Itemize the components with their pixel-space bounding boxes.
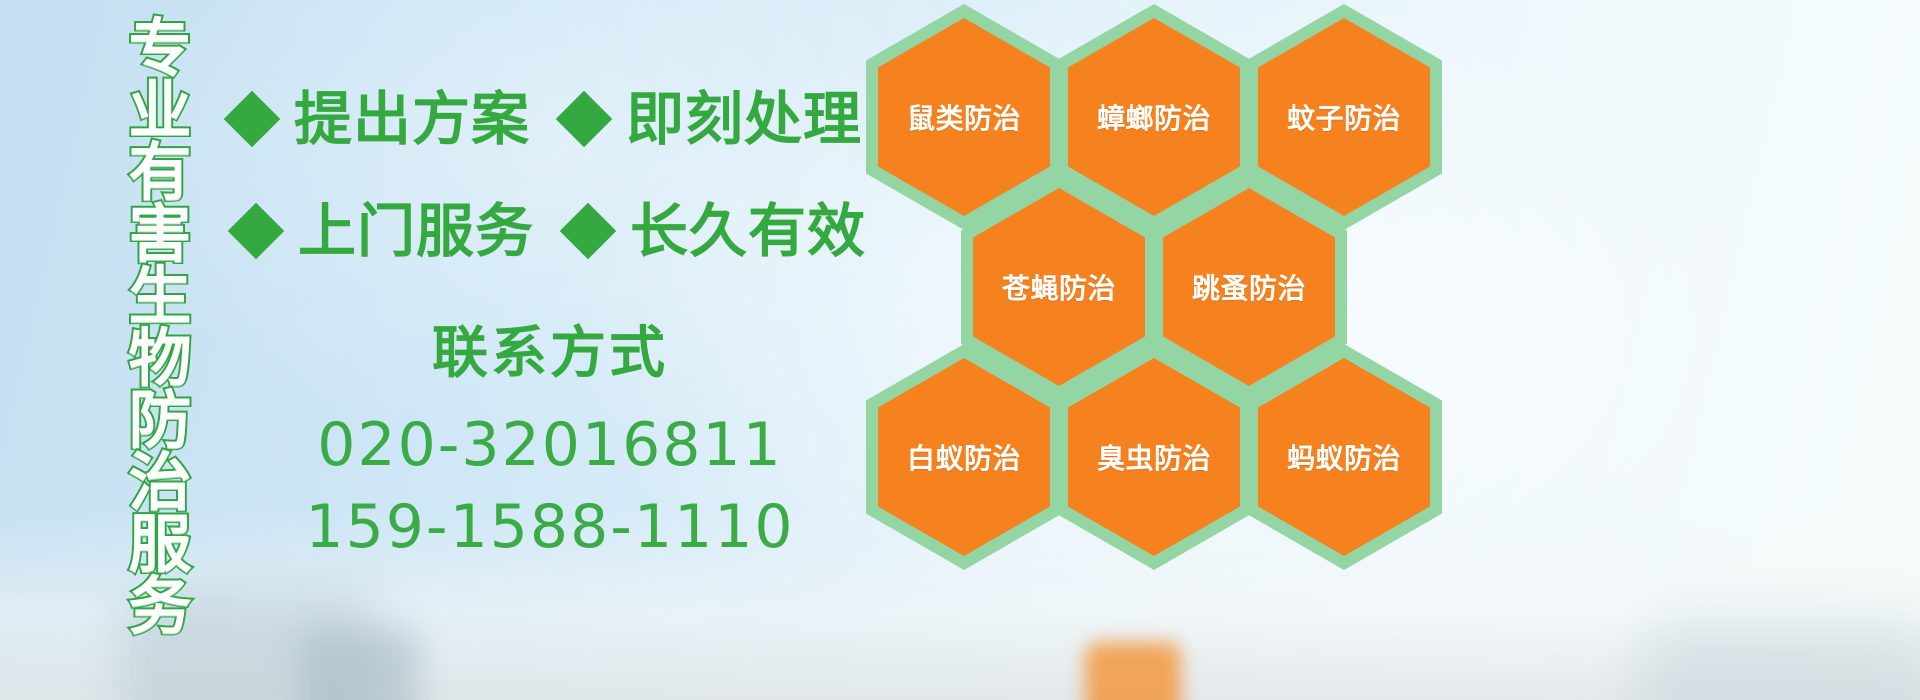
vertical-headline: 专 业 有 害 生 物 防 治 服 务 xyxy=(112,18,208,578)
vertical-headline-char: 务 xyxy=(129,576,192,638)
feature-row-top: 提出方案 即刻处理 xyxy=(232,88,862,150)
diamond-icon xyxy=(560,203,617,260)
hex-inner: 蚂蚁防治 xyxy=(1258,358,1430,556)
service-label: 跳蚤防治 xyxy=(1192,267,1306,307)
service-label: 苍蝇防治 xyxy=(1002,267,1116,307)
hex-inner: 蟑螂防治 xyxy=(1068,18,1240,216)
service-label: 臭虫防治 xyxy=(1097,437,1211,477)
feature-label: 上门服务 xyxy=(298,200,534,262)
hex-inner: 蚊子防治 xyxy=(1258,18,1430,216)
hex-inner: 跳蚤防治 xyxy=(1163,188,1335,386)
feature-item-long-lasting: 长久有效 xyxy=(568,200,866,262)
diamond-icon xyxy=(228,203,285,260)
feature-label: 提出方案 xyxy=(294,88,530,150)
contact-title: 联系方式 xyxy=(240,318,860,390)
hex-inner: 苍蝇防治 xyxy=(973,188,1145,386)
services-honeycomb: 鼠类防治 蟑螂防治 蚊子防治 苍蝇防治 跳蚤防治 白蚁防治 xyxy=(862,0,1462,556)
vertical-headline-char: 有 xyxy=(129,142,192,204)
vertical-headline-char: 服 xyxy=(129,514,192,576)
vertical-headline-char: 生 xyxy=(129,266,192,328)
feature-item-immediate-handling: 即刻处理 xyxy=(564,88,862,150)
hex-inner: 白蚁防治 xyxy=(878,358,1050,556)
phone-mobile[interactable]: 159-1588-1110 xyxy=(240,488,860,566)
feature-item-onsite-service: 上门服务 xyxy=(236,200,534,262)
hex-inner: 鼠类防治 xyxy=(878,18,1050,216)
vertical-headline-char: 害 xyxy=(129,204,192,266)
feature-label: 长久有效 xyxy=(630,200,866,262)
background-blur-shape-orange xyxy=(1085,642,1181,700)
service-label: 蚂蚁防治 xyxy=(1287,437,1401,477)
feature-label: 即刻处理 xyxy=(626,88,862,150)
hex-inner: 臭虫防治 xyxy=(1068,358,1240,556)
diamond-icon xyxy=(224,91,281,148)
service-label: 鼠类防治 xyxy=(907,97,1021,137)
vertical-headline-char: 专 xyxy=(129,18,192,80)
diamond-icon xyxy=(556,91,613,148)
contact-block: 联系方式 020-32016811 159-1588-1110 xyxy=(240,318,860,566)
promo-banner: 专 业 有 害 生 物 防 治 服 务 提出方案 即刻处理 上门服务 长久有效 xyxy=(0,0,1920,700)
service-label: 蚊子防治 xyxy=(1287,97,1401,137)
background-blur-shape-mid xyxy=(300,630,420,700)
vertical-headline-char: 治 xyxy=(129,452,192,514)
service-label: 蟑螂防治 xyxy=(1097,97,1211,137)
phone-landline[interactable]: 020-32016811 xyxy=(240,406,860,484)
background-blur-shape-right xyxy=(1640,620,1920,700)
service-label: 白蚁防治 xyxy=(907,437,1021,477)
feature-item-propose-plan: 提出方案 xyxy=(232,88,530,150)
vertical-headline-char: 业 xyxy=(129,80,192,142)
vertical-headline-char: 防 xyxy=(129,390,192,452)
feature-row-bottom: 上门服务 长久有效 xyxy=(236,200,866,262)
vertical-headline-char: 物 xyxy=(129,328,192,390)
